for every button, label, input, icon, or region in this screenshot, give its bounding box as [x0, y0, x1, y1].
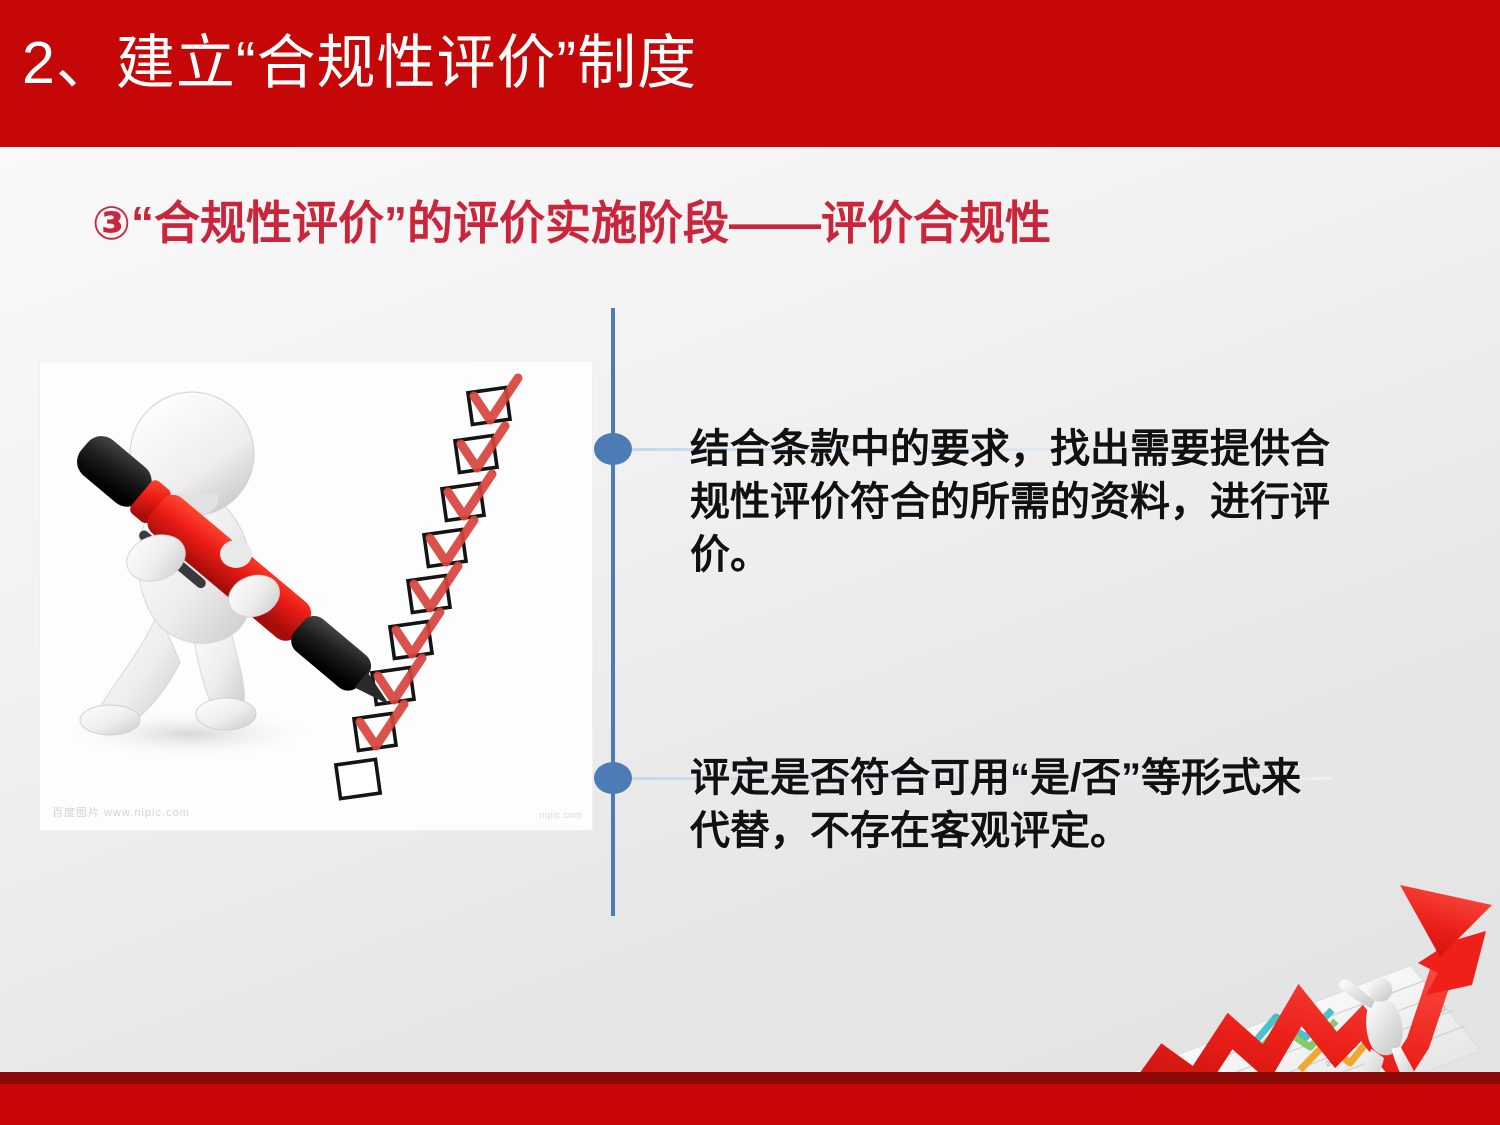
timeline-item-text-1: 结合条款中的要求，找出需要提供合规性评价符合的所需的资料，进行评价。 — [690, 423, 1330, 581]
checklist-illustration: 百度图片 www.nipic.com nipic.com — [40, 362, 592, 830]
svg-text:2012: 2012 — [1431, 1005, 1448, 1019]
picture-watermark-left: 百度图片 www.nipic.com — [52, 804, 190, 820]
timeline-vertical-line — [611, 308, 615, 916]
timeline-item-text-2: 评定是否符合可用“是/否”等形式来代替，不存在客观评定。 — [690, 752, 1330, 858]
svg-text:2011: 2011 — [1385, 1027, 1402, 1041]
svg-text:2010: 2010 — [1325, 1054, 1342, 1068]
slide-root: 2、建立“合规性评价”制度 ③“合规性评价”的评价实施阶段——评价合规性 — [0, 0, 1500, 1125]
page-title: 2、建立“合规性评价”制度 — [22, 30, 697, 96]
timeline-bullet-dot-1[interactable] — [594, 433, 632, 465]
footer-accent-line — [0, 1072, 1500, 1084]
timeline-bullet-dot-2[interactable] — [594, 762, 632, 794]
checklist-illustration-svg — [40, 362, 592, 830]
section-subtitle: ③“合规性评价”的评价实施阶段——评价合规性 — [92, 197, 1051, 250]
picture-watermark-right: nipic.com — [539, 810, 582, 820]
footer-bar — [0, 1084, 1500, 1125]
